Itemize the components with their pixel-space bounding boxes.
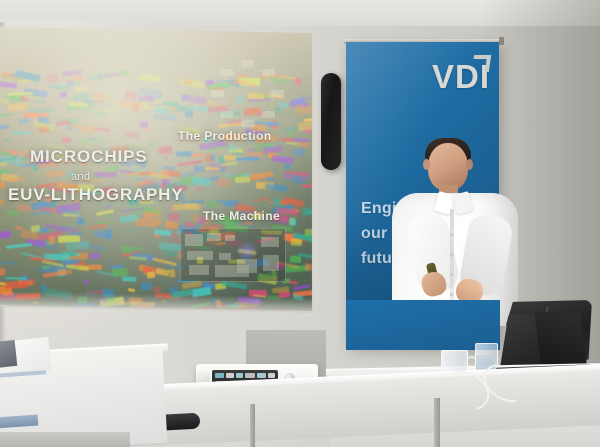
shirt-button (450, 293, 453, 296)
wall-speaker (321, 73, 341, 170)
slide-title-microchips: MICROCHIPS (30, 147, 148, 167)
shirt-button (450, 233, 453, 236)
machine-plasma-glow (236, 241, 258, 261)
slide-label-production: The Production (178, 129, 272, 143)
floor (0, 432, 130, 447)
production-cycle-diagram (196, 62, 296, 124)
banner-rail-knob (499, 37, 504, 45)
shirt-button (450, 273, 453, 276)
presenter-ear-left (423, 159, 430, 170)
slide-title-euv-lithography: EUV-LITHOGRAPHY (8, 185, 183, 205)
presenter-ear-right (466, 159, 473, 170)
machine-schematic-image (180, 228, 286, 282)
laptop-lid-back (534, 312, 587, 370)
sheet-image-block (0, 340, 17, 368)
slide-label-machine: The Machine (203, 209, 280, 223)
shirt-button (450, 253, 453, 256)
table-leg (434, 398, 440, 447)
presenter-head (428, 143, 468, 191)
table-leg (250, 404, 255, 447)
slide-title-and: and (71, 171, 90, 183)
photo-scene: The Production MICROCHIPS and EUV-LITHOG… (0, 0, 600, 447)
